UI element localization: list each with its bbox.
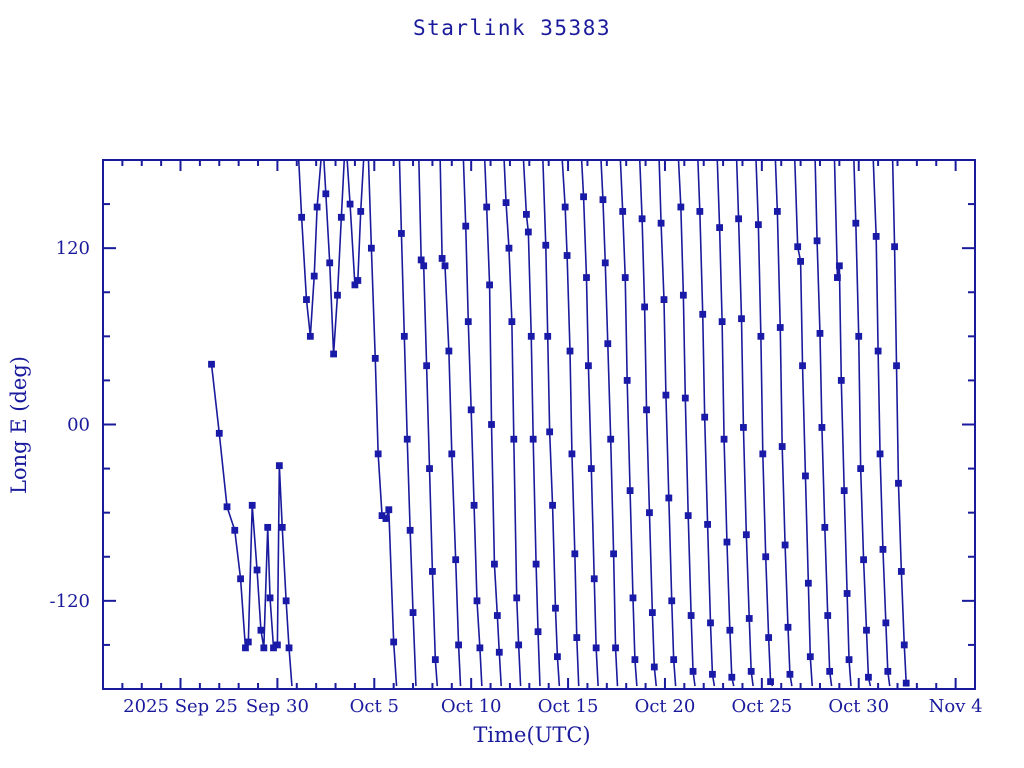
- data-point-marker: [899, 569, 905, 575]
- data-point-marker: [861, 557, 867, 563]
- data-point-marker: [697, 209, 703, 215]
- data-point-marker: [267, 595, 273, 601]
- data-point-marker: [827, 669, 833, 675]
- x-tick-label: Oct 25: [731, 696, 792, 717]
- data-point-marker: [685, 513, 691, 519]
- data-point-marker: [424, 363, 430, 369]
- data-point-marker: [567, 348, 573, 354]
- data-point-marker: [314, 204, 320, 210]
- data-point-marker: [528, 334, 534, 340]
- x-axis-tick-labels: 2025 Sep 25Sep 30Oct 5Oct 10Oct 15Oct 20…: [123, 696, 982, 717]
- data-point-marker: [399, 231, 405, 237]
- data-point-marker: [586, 363, 592, 369]
- data-point-marker: [782, 542, 788, 548]
- data-point-marker: [724, 539, 730, 545]
- data-point-marker: [841, 488, 847, 494]
- data-point-marker: [509, 319, 515, 325]
- data-point-marker: [798, 259, 804, 265]
- data-point-marker: [858, 466, 864, 472]
- data-point-marker: [729, 674, 735, 680]
- data-point-marker: [658, 220, 664, 226]
- data-point-marker: [331, 351, 337, 357]
- data-point-marker: [572, 551, 578, 557]
- data-point-marker: [896, 480, 902, 486]
- data-point-marker: [856, 334, 862, 340]
- data-point-marker: [593, 645, 599, 651]
- data-point-marker: [864, 627, 870, 633]
- data-point-marker: [688, 613, 694, 619]
- data-point-marker: [669, 598, 675, 604]
- data-point-marker: [375, 451, 381, 457]
- data-point-marker: [892, 244, 898, 250]
- data-point-marker: [449, 451, 455, 457]
- data-point-marker: [838, 378, 844, 384]
- data-point-marker: [550, 503, 556, 509]
- data-point-marker: [766, 635, 772, 641]
- x-axis-title: Time(UTC): [473, 723, 590, 747]
- data-point-marker: [238, 576, 244, 582]
- data-point-marker: [465, 319, 471, 325]
- data-point-marker: [825, 613, 831, 619]
- data-point-marker: [600, 197, 606, 203]
- data-point-marker: [283, 598, 289, 604]
- data-point-marker: [700, 311, 706, 317]
- data-point-marker: [533, 561, 539, 567]
- data-point-marker: [622, 275, 628, 281]
- data-point-marker: [275, 642, 281, 648]
- data-point-marker: [835, 275, 841, 281]
- data-point-marker: [639, 216, 645, 222]
- x-tick-label: Nov 4: [929, 696, 983, 717]
- data-point-marker: [650, 610, 656, 616]
- data-point-marker: [739, 316, 745, 322]
- data-point-marker: [279, 525, 285, 531]
- data-point-marker: [496, 649, 502, 655]
- data-point-marker: [708, 620, 714, 626]
- data-point-marker: [358, 209, 364, 215]
- data-point-marker: [661, 297, 667, 303]
- data-point-marker: [584, 275, 590, 281]
- data-point-marker: [666, 495, 672, 501]
- data-point-marker: [795, 244, 801, 250]
- data-point-marker: [506, 245, 512, 251]
- data-point-marker: [748, 669, 754, 675]
- data-point-marker: [355, 278, 361, 284]
- data-point-marker: [875, 348, 881, 354]
- data-point-marker: [779, 444, 785, 450]
- data-point-marker: [495, 613, 501, 619]
- x-tick-label: Oct 10: [441, 696, 502, 717]
- data-point-marker: [775, 209, 781, 215]
- data-point-marker: [763, 554, 769, 560]
- data-point-marker: [463, 223, 469, 229]
- x-tick-label: Oct 30: [828, 696, 889, 717]
- data-point-marker: [535, 629, 541, 635]
- data-point-marker: [605, 341, 611, 347]
- data-point-marker: [442, 263, 448, 269]
- data-point-marker: [433, 657, 439, 663]
- data-point-marker: [727, 627, 733, 633]
- data-point-marker: [249, 503, 255, 509]
- data-point-marker: [547, 429, 553, 435]
- data-point-marker: [803, 473, 809, 479]
- data-point-marker: [484, 204, 490, 210]
- data-point-marker: [543, 242, 549, 248]
- data-point-marker: [446, 348, 452, 354]
- data-point-marker: [516, 642, 522, 648]
- data-point-marker: [806, 580, 812, 586]
- data-point-marker: [768, 679, 774, 685]
- data-point-marker: [347, 201, 353, 207]
- data-point-marker: [702, 414, 708, 420]
- data-point-marker: [574, 635, 580, 641]
- data-point-marker: [383, 516, 389, 522]
- data-point-marker: [323, 191, 329, 197]
- data-point-marker: [632, 657, 638, 663]
- x-tick-label: Oct 5: [350, 696, 399, 717]
- data-point-marker: [487, 282, 493, 288]
- data-point-marker: [756, 222, 762, 228]
- data-point-marker: [717, 225, 723, 231]
- data-point-marker: [216, 431, 222, 437]
- data-point-marker: [304, 297, 310, 303]
- data-series-line: [212, 160, 909, 686]
- data-point-marker: [410, 610, 416, 616]
- data-point-marker: [705, 522, 711, 528]
- data-point-marker: [453, 557, 459, 563]
- data-point-marker: [758, 334, 764, 340]
- plot-canvas: 2025 Sep 25Sep 30Oct 5Oct 10Oct 15Oct 20…: [0, 0, 1024, 768]
- data-point-marker: [471, 503, 477, 509]
- y-axis-title: Long E (deg): [7, 356, 31, 494]
- data-point-marker: [277, 463, 283, 469]
- data-point-marker: [800, 363, 806, 369]
- data-point-marker: [427, 466, 433, 472]
- data-point-marker: [402, 334, 408, 340]
- data-point-marker: [719, 319, 725, 325]
- data-point-marker: [311, 273, 317, 279]
- data-point-marker: [232, 528, 238, 534]
- data-point-marker: [844, 591, 850, 597]
- data-point-marker: [299, 215, 305, 221]
- plot-page: Starlink 35383 2025 Sep 25Sep 30Oct 5Oct…: [0, 0, 1024, 768]
- data-point-marker: [624, 378, 630, 384]
- data-point-marker: [630, 595, 636, 601]
- data-point-marker: [873, 234, 879, 240]
- data-point-marker: [569, 451, 575, 457]
- data-point-marker: [526, 229, 532, 235]
- data-point-marker: [883, 620, 889, 626]
- data-point-marker: [265, 525, 271, 531]
- data-point-marker: [477, 645, 483, 651]
- data-point-marker: [620, 209, 626, 215]
- data-point-marker: [407, 528, 413, 534]
- data-point-marker: [372, 356, 378, 362]
- data-point-marker: [589, 466, 595, 472]
- data-point-marker: [456, 642, 462, 648]
- axis-frame: [103, 160, 975, 689]
- data-point-marker: [339, 215, 345, 221]
- data-point-marker: [683, 395, 689, 401]
- data-point-marker: [261, 645, 267, 651]
- data-point-marker: [880, 547, 886, 553]
- data-point-marker: [553, 605, 559, 611]
- data-point-marker: [246, 639, 252, 645]
- data-point-marker: [391, 639, 397, 645]
- data-point-marker: [489, 422, 495, 428]
- data-point-marker: [644, 407, 650, 413]
- data-point-marker: [746, 616, 752, 622]
- data-point-marker: [224, 504, 230, 510]
- x-tick-label: Oct 15: [538, 696, 599, 717]
- data-point-marker: [853, 220, 859, 226]
- data-point-marker: [308, 334, 314, 340]
- data-point-marker: [327, 260, 333, 266]
- x-tick-label: Oct 20: [635, 696, 696, 717]
- data-point-marker: [530, 436, 536, 442]
- x-tick-label: 2025 Sep 25: [123, 696, 238, 717]
- data-point-marker: [885, 669, 891, 675]
- data-point-marker: [562, 204, 568, 210]
- data-point-marker: [474, 598, 480, 604]
- data-point-marker: [760, 451, 766, 457]
- data-point-marker: [814, 238, 820, 244]
- data-point-marker: [866, 674, 872, 680]
- data-point-marker: [591, 576, 597, 582]
- data-point-marker: [721, 436, 727, 442]
- data-point-marker: [439, 256, 445, 262]
- data-point-marker: [243, 645, 249, 651]
- data-point-marker: [602, 260, 608, 266]
- data-point-marker: [846, 657, 852, 663]
- data-point-marker: [286, 645, 292, 651]
- data-point-marker: [817, 331, 823, 337]
- y-tick-label: 120: [56, 238, 90, 259]
- data-point-marker: [468, 407, 474, 413]
- data-point-marker: [524, 212, 530, 218]
- data-point-marker: [671, 657, 677, 663]
- x-tick-label: Sep 30: [246, 696, 309, 717]
- data-point-marker: [613, 645, 619, 651]
- y-tick-label: 00: [67, 415, 90, 436]
- x-axis-ticks: [103, 160, 975, 689]
- data-point-marker: [421, 263, 427, 269]
- data-point-marker: [785, 624, 791, 630]
- data-point-marker: [690, 669, 696, 675]
- data-point-marker: [555, 654, 561, 660]
- data-point-marker: [710, 672, 716, 678]
- data-point-marker: [741, 425, 747, 431]
- data-point-marker: [877, 451, 883, 457]
- data-point-marker: [492, 561, 498, 567]
- data-point-marker: [647, 510, 653, 516]
- data-point-marker: [209, 361, 215, 367]
- data-point-marker: [822, 525, 828, 531]
- data-point-marker: [608, 436, 614, 442]
- data-point-marker: [581, 194, 587, 200]
- data-point-marker: [894, 363, 900, 369]
- data-point-marker: [901, 642, 907, 648]
- data-point-marker: [258, 627, 264, 633]
- data-point-marker: [514, 595, 520, 601]
- data-point-marker: [681, 292, 687, 298]
- data-point-marker: [254, 567, 260, 573]
- data-point-marker: [430, 569, 436, 575]
- data-point-marker: [627, 488, 633, 494]
- data-point-marker: [744, 532, 750, 538]
- y-tick-label: -120: [50, 591, 90, 612]
- data-point-marker: [404, 436, 410, 442]
- data-point-marker: [837, 263, 843, 269]
- data-point-marker: [777, 325, 783, 331]
- data-point-marker: [903, 680, 909, 686]
- data-point-marker: [611, 551, 617, 557]
- data-point-marker: [736, 216, 742, 222]
- data-point-marker: [787, 672, 793, 678]
- data-point-marker: [678, 204, 684, 210]
- data-point-marker: [663, 392, 669, 398]
- data-point-marker: [511, 436, 517, 442]
- data-point-marker: [503, 200, 509, 206]
- data-point-marker: [819, 425, 825, 431]
- data-point-marker: [652, 664, 658, 670]
- data-point-marker: [386, 507, 392, 513]
- data-point-marker: [369, 245, 375, 251]
- data-point-marker: [545, 334, 551, 340]
- data-point-marker: [642, 304, 648, 310]
- y-axis-tick-labels: 12000-120: [50, 238, 90, 612]
- y-axis-ticks: [103, 160, 975, 689]
- data-point-marker: [564, 253, 570, 259]
- data-point-marker: [335, 292, 341, 298]
- data-point-marker: [807, 654, 813, 660]
- data-point-marker: [418, 257, 424, 263]
